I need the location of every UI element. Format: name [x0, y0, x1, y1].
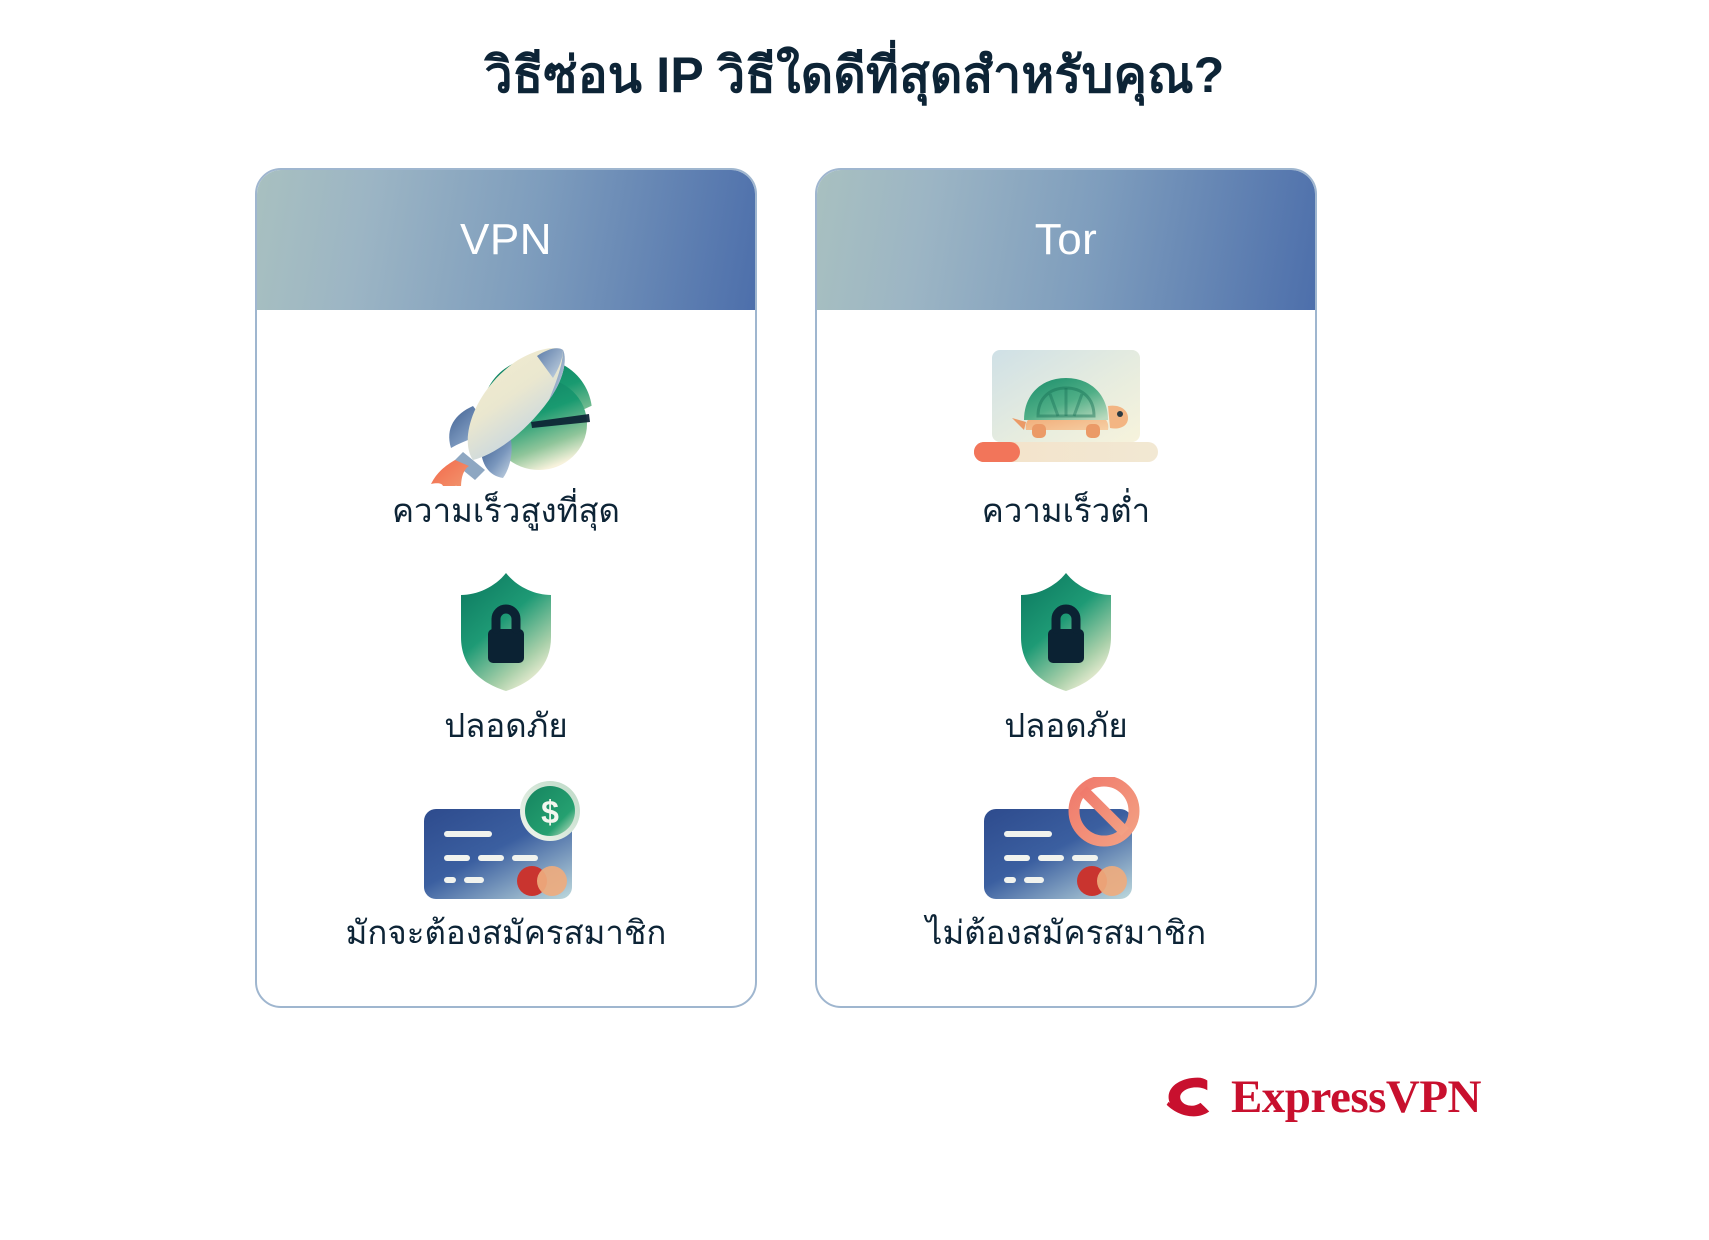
card-vpn: VPN [255, 168, 757, 1008]
card-tor-header: Tor [817, 170, 1315, 310]
expressvpn-logo-text: ExpressVPN [1231, 1074, 1481, 1121]
credit-card-dollar-icon: $ [416, 776, 596, 908]
feature-vpn-secure: ปลอดภัย [257, 533, 755, 748]
expressvpn-logo: ExpressVPN [1155, 1066, 1481, 1128]
shield-lock-icon [1011, 567, 1121, 697]
feature-tor-secure-label: ปลอดภัย [1004, 705, 1128, 748]
turtle-laptop-icon [966, 336, 1166, 486]
shield-lock-icon [451, 567, 561, 697]
feature-tor-speed: ความเร็วต่ำ [817, 336, 1315, 533]
feature-tor-secure: ปลอดภัย [817, 533, 1315, 748]
feature-tor-payment-label: ไม่ต้องสมัครสมาชิก [926, 912, 1206, 955]
feature-tor-payment: ไม่ต้องสมัครสมาชิก [817, 748, 1315, 955]
feature-vpn-payment-label: มักจะต้องสมัครสมาชิก [346, 912, 667, 955]
feature-vpn-speed: ความเร็วสูงที่สุด [257, 336, 755, 533]
rocket-speedometer-icon [411, 336, 601, 486]
card-tor: Tor [815, 168, 1317, 1008]
feature-vpn-secure-label: ปลอดภัย [444, 705, 568, 748]
page-title: วิธีซ่อน IP วิธีใดดีที่สุดสำหรับคุณ? [0, 44, 1709, 107]
expressvpn-logo-mark [1155, 1066, 1217, 1128]
credit-card-prohibited-icon [976, 776, 1156, 908]
card-vpn-header: VPN [257, 170, 755, 310]
card-vpn-title: VPN [460, 215, 552, 265]
feature-vpn-payment: $ มักจะต้องสมัครสมาชิก [257, 748, 755, 955]
svg-text:$: $ [541, 794, 559, 830]
card-tor-body: ความเร็วต่ำ [817, 310, 1315, 1006]
card-vpn-body: ความเร็วสูงที่สุด [257, 310, 755, 1006]
card-tor-title: Tor [1035, 215, 1098, 265]
feature-tor-speed-label: ความเร็วต่ำ [982, 490, 1150, 533]
comparison-cards: VPN [255, 168, 1455, 1008]
feature-vpn-speed-label: ความเร็วสูงที่สุด [392, 490, 620, 533]
infographic-canvas: วิธีซ่อน IP วิธีใดดีที่สุดสำหรับคุณ? VPN [0, 0, 1709, 1240]
